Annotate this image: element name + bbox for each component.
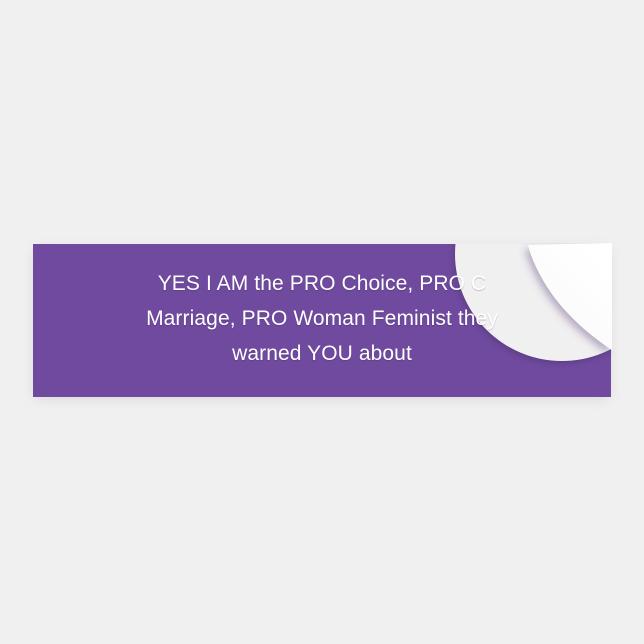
sticker-message-text: YES I AM the PRO Choice, PRO C Marriage,… — [33, 266, 611, 371]
bumper-sticker[interactable]: YES I AM the PRO Choice, PRO C Marriage,… — [33, 244, 611, 397]
product-image-canvas: YES I AM the PRO Choice, PRO C Marriage,… — [0, 0, 644, 644]
